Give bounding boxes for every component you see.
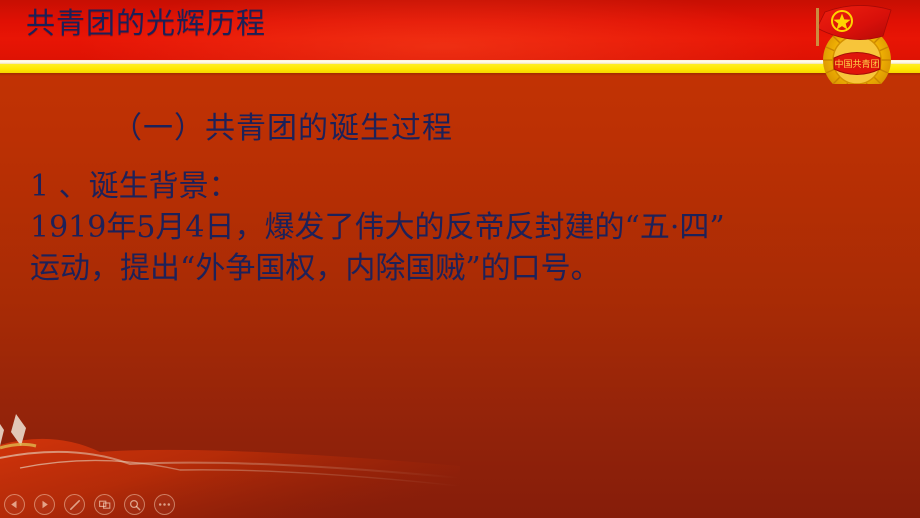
divider-shadow: [0, 73, 920, 76]
body-line: 1919年5月4日，爆发了伟大的反帝反封建的“五·四”: [30, 207, 900, 248]
zoom-button[interactable]: [124, 494, 145, 515]
slide-title: 共青团的光辉历程: [26, 9, 266, 38]
ellipsis-icon: [158, 502, 171, 507]
emblem-banner-text: 中国共青团: [834, 58, 879, 70]
body-line: 1 、诞生背景：: [30, 166, 900, 207]
triangle-left-icon: [10, 500, 19, 509]
section-heading: （一）共青团的诞生过程: [112, 103, 453, 147]
divider-yellow-stripe: [0, 64, 920, 73]
presentation-slide: 共青团的光辉历程: [0, 0, 920, 518]
more-options-button[interactable]: [154, 494, 175, 515]
body-line: 运动，提出“外争国权，内除国贼”的口号。: [30, 248, 900, 289]
pen-icon: [69, 499, 81, 511]
slides-grid-icon: [99, 499, 111, 510]
slide-body-text: 1 、诞生背景： 1919年5月4日，爆发了伟大的反帝反封建的“五·四” 运动，…: [30, 166, 900, 289]
communist-youth-league-emblem-icon: 中国共青团: [795, 2, 919, 84]
slide-overview-button[interactable]: [94, 494, 115, 515]
magnifier-icon: [129, 499, 141, 511]
next-slide-button[interactable]: [34, 494, 55, 515]
presentation-toolbar[interactable]: [4, 494, 175, 515]
previous-slide-button[interactable]: [4, 494, 25, 515]
triangle-right-icon: [40, 500, 49, 509]
pen-tool-button[interactable]: [64, 494, 85, 515]
